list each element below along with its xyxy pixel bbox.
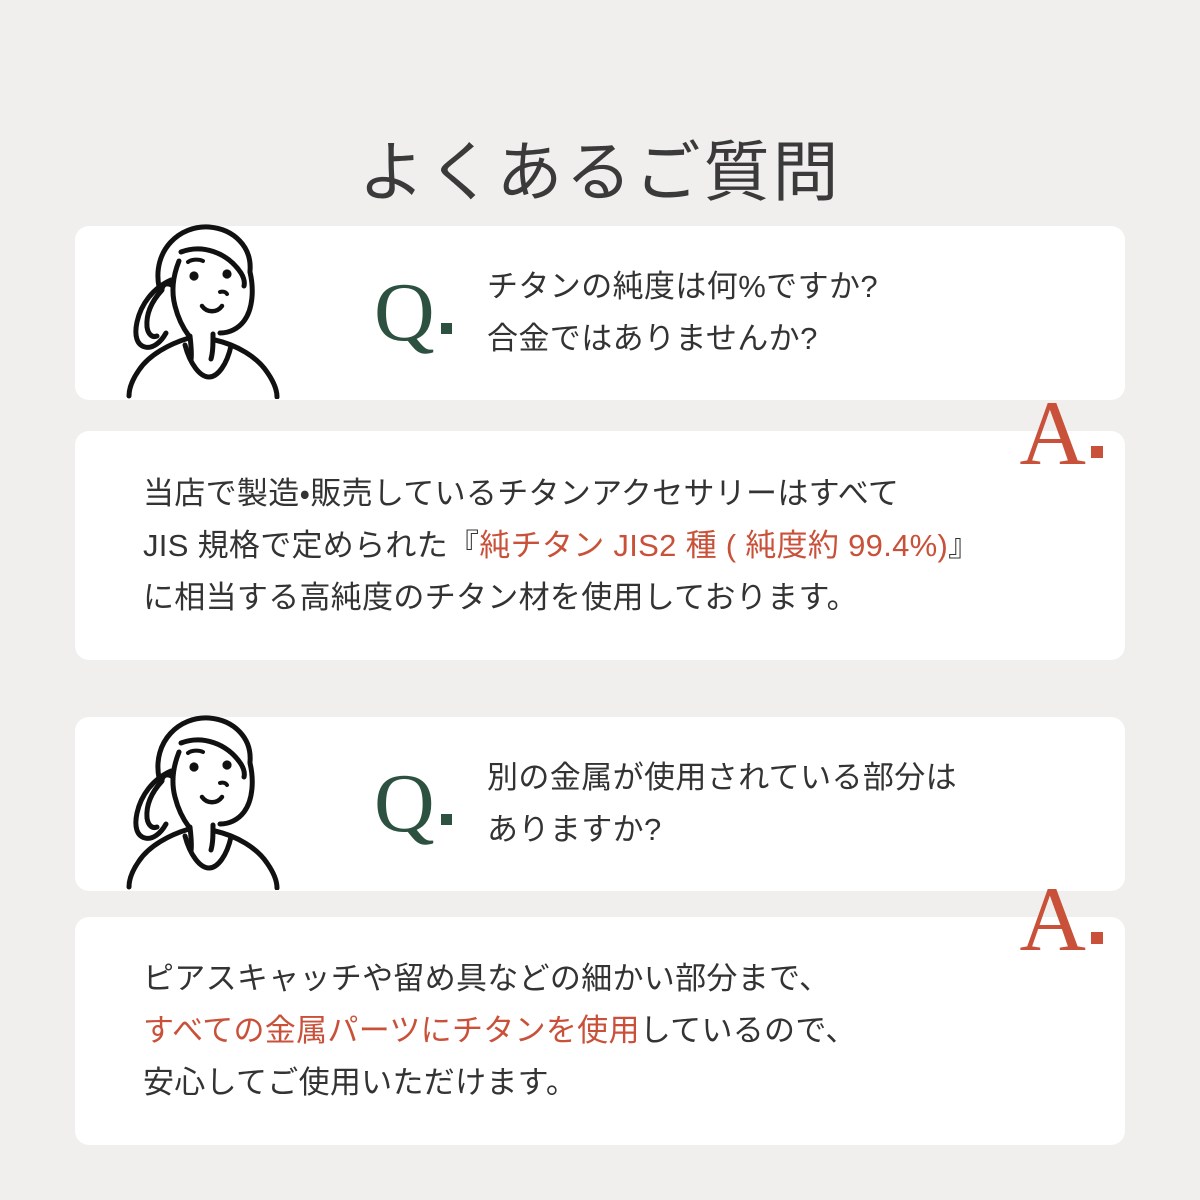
faq-page: よくあるご質問 (0, 0, 1200, 1200)
question-mark: Q (374, 271, 452, 355)
answer-line: 安心してご使用いただけます。 (143, 1057, 857, 1109)
answer-mark-letter: A (1020, 868, 1086, 970)
question-mark-dot (441, 814, 452, 825)
question-card: Q 別の金属が使用されている部分は ありますか? (75, 717, 1125, 891)
question-mark-letter: Q (374, 266, 435, 359)
answer-card: A 当店で製造・販売しているチタンアクセサリーはすべて JIS 規格で定められた… (75, 431, 1125, 660)
answer-line: ピアスキャッチや留め具などの細かい部分まで、 (143, 953, 857, 1005)
question-card-inner: Q 別の金属が使用されている部分は ありますか? (75, 717, 1125, 891)
question-text: チタンの純度は何%ですか? 合金ではありませんか? (487, 261, 878, 365)
answer-line: 当店で製造・販売しているチタンアクセサリーはすべて (143, 468, 979, 520)
question-card-inner: Q チタンの純度は何%ですか? 合金ではありませんか? (75, 226, 1125, 400)
question-line: ありますか? (487, 804, 957, 856)
question-mark-dot (441, 323, 452, 334)
question-mark: Q (374, 762, 452, 846)
woman-illustration-icon (117, 705, 297, 890)
question-line: 合金ではありませんか? (487, 313, 878, 365)
woman-illustration-icon (117, 214, 297, 399)
answer-line: JIS 規格で定められた『純チタン JIS2 種 ( 純度約 99.4%)』 (143, 520, 979, 572)
answer-text: 当店で製造・販売しているチタンアクセサリーはすべて JIS 規格で定められた『純… (143, 468, 979, 624)
answer-mark: A (1020, 387, 1103, 479)
answer-line: に相当する高純度のチタン材を使用しております。 (143, 572, 979, 624)
question-mark-letter: Q (374, 757, 435, 850)
answer-line: すべての金属パーツにチタンを使用しているので、 (143, 1005, 857, 1057)
question-text: 別の金属が使用されている部分は ありますか? (487, 752, 957, 856)
answer-highlight: すべての金属パーツにチタンを使用 (143, 1013, 640, 1048)
answer-mark-dot (1091, 446, 1103, 458)
answer-mark-letter: A (1020, 382, 1086, 484)
answer-mark-dot (1091, 932, 1103, 944)
answer-mark: A (1020, 873, 1103, 965)
question-card: Q チタンの純度は何%ですか? 合金ではありませんか? (75, 226, 1125, 400)
answer-text: ピアスキャッチや留め具などの細かい部分まで、 すべての金属パーツにチタンを使用し… (143, 953, 857, 1109)
page-title: よくあるご質問 (0, 130, 1200, 214)
answer-highlight: 純チタン JIS2 種 ( 純度約 99.4%) (479, 528, 948, 563)
question-line: 別の金属が使用されている部分は (487, 752, 957, 804)
answer-card: A ピアスキャッチや留め具などの細かい部分まで、 すべての金属パーツにチタンを使… (75, 917, 1125, 1145)
question-line: チタンの純度は何%ですか? (487, 261, 878, 313)
